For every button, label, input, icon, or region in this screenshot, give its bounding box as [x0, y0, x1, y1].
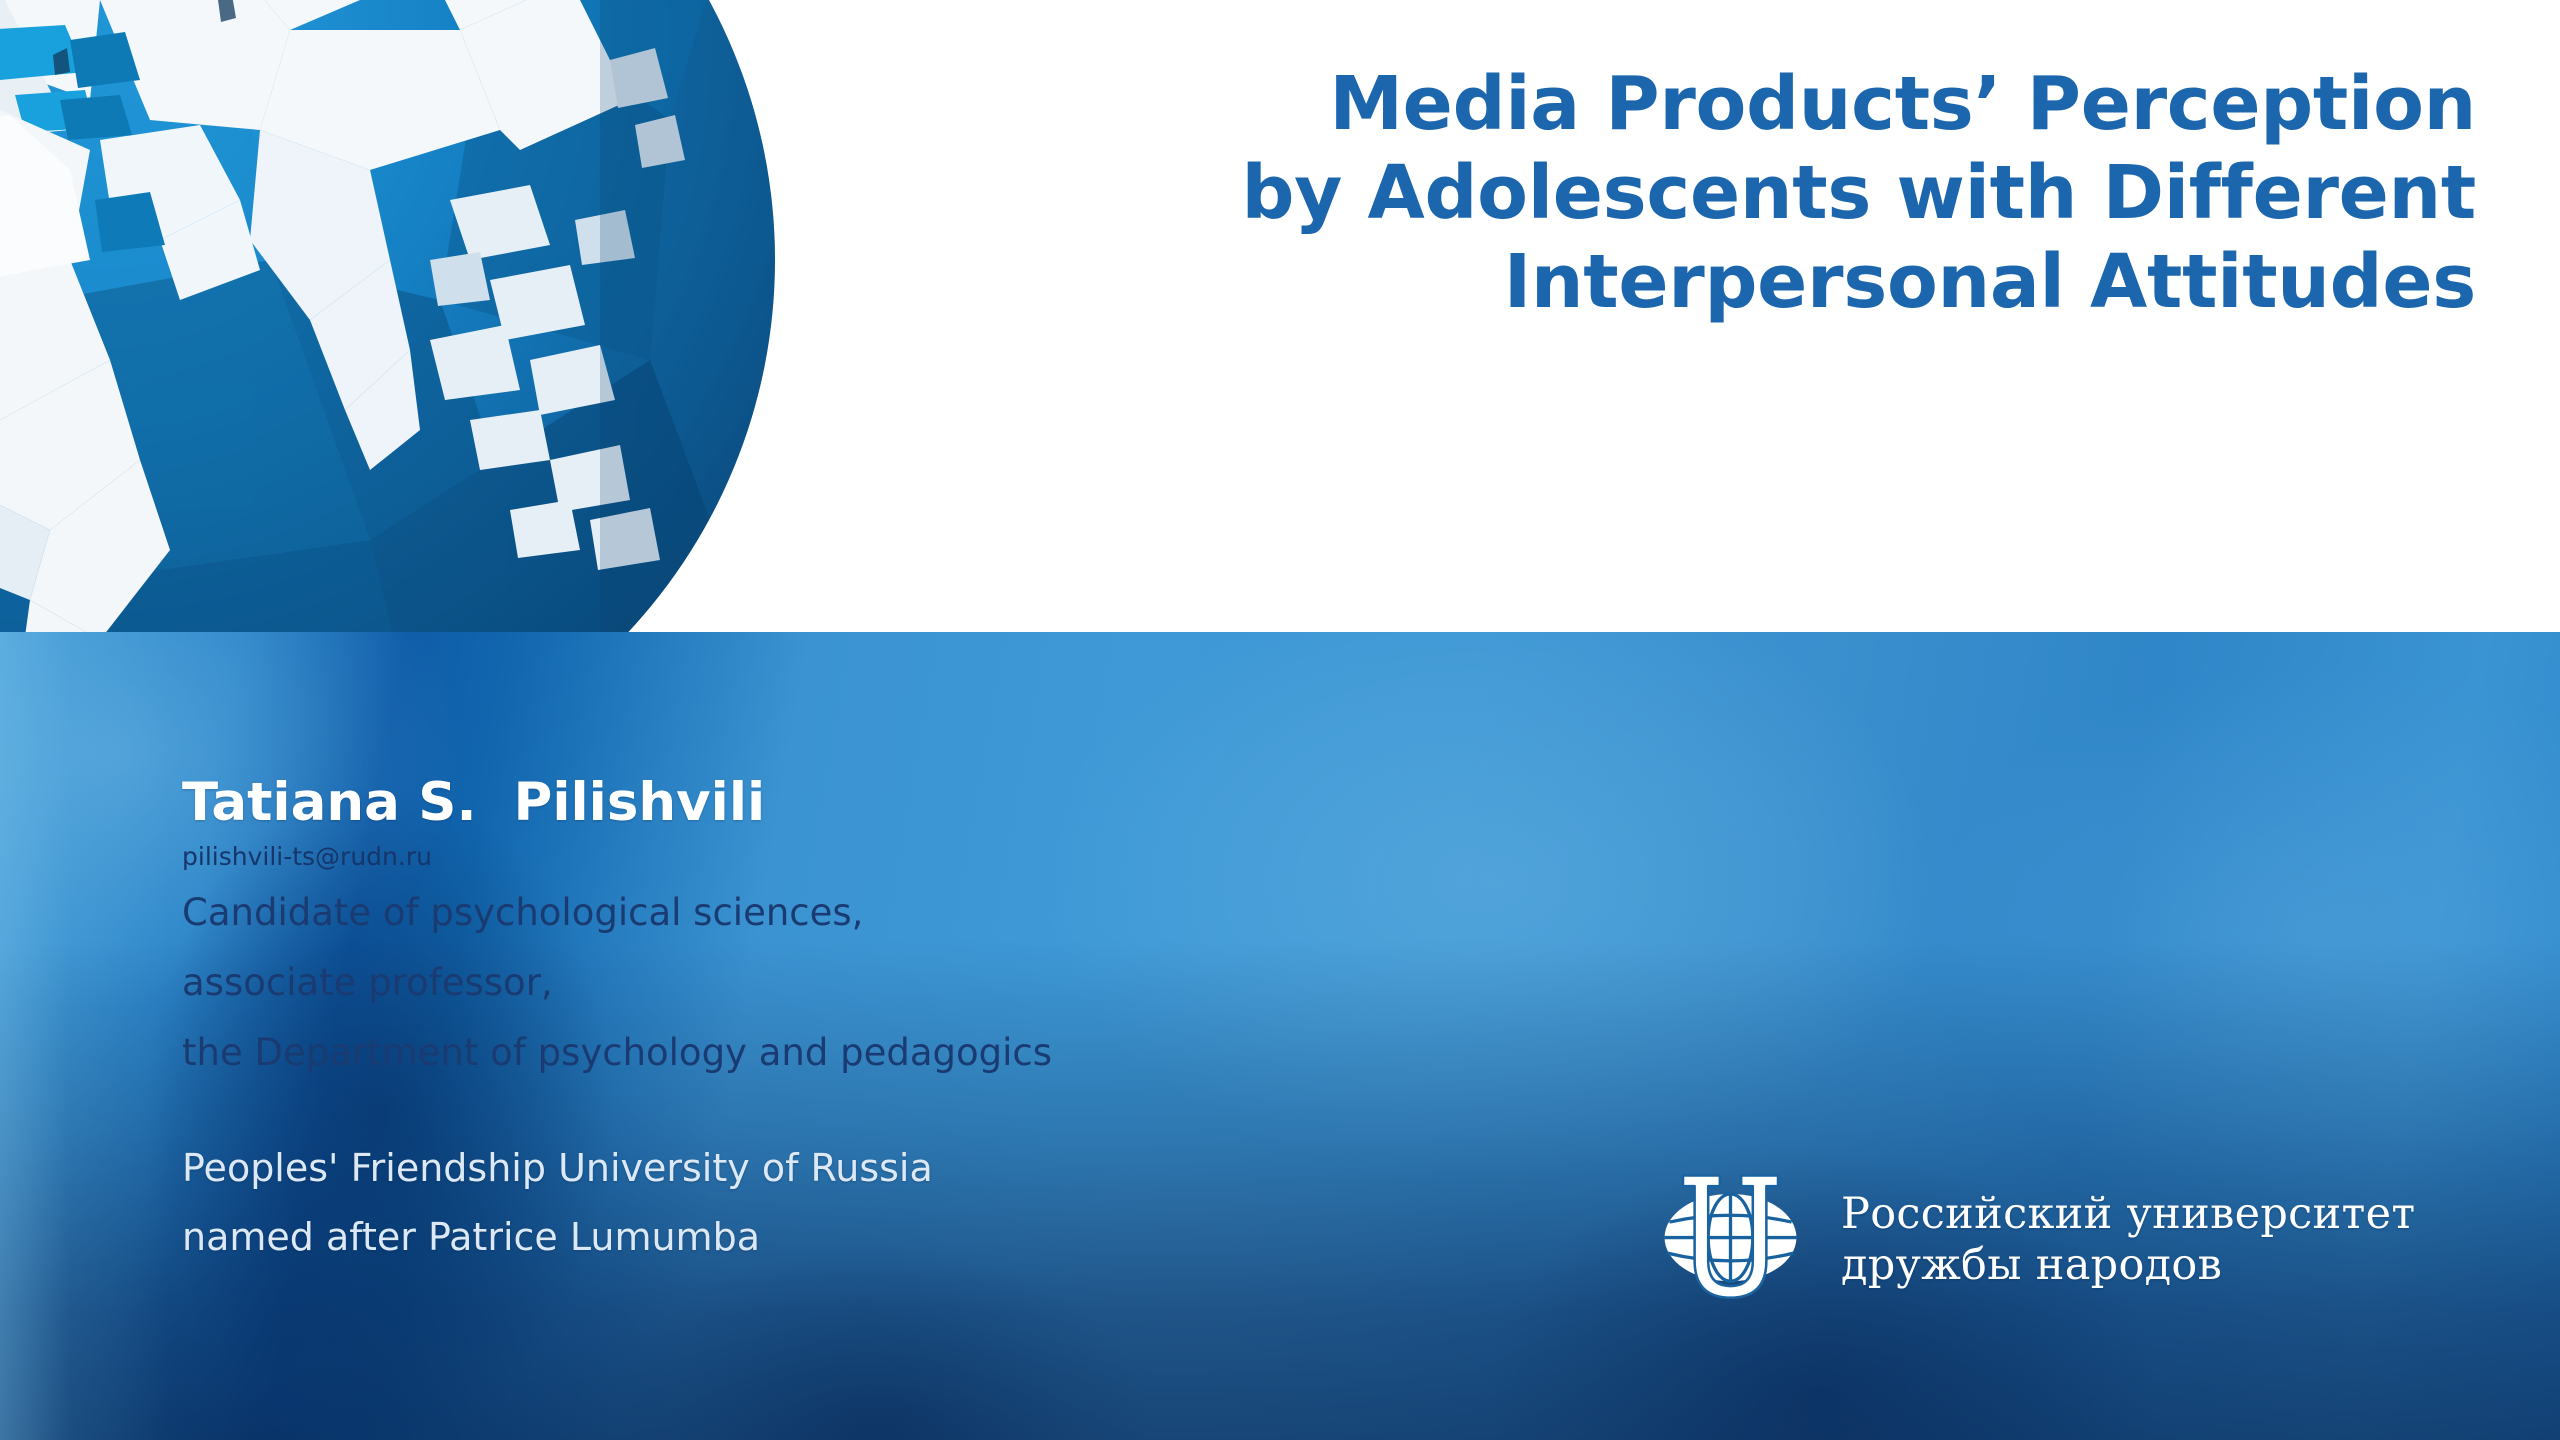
title-line-3: Interpersonal Attitudes: [836, 238, 2476, 327]
credential-line-2: associate professor,: [182, 948, 1052, 1018]
slide-footer-panel: Tatiana S. Pilishvili pilishvili-ts@rudn…: [0, 632, 2560, 1440]
university-line-2: named after Patrice Lumumba: [182, 1203, 933, 1272]
university-affiliation: Peoples' Friendship University of Russia…: [182, 1134, 933, 1272]
page-title: Media Products’ Perception by Adolescent…: [836, 60, 2476, 327]
title-line-2: by Adolescents with Different: [836, 149, 2476, 238]
rudn-logo: Российский университет дружбы народов: [1648, 1160, 2415, 1320]
title-slide: Media Products’ Perception by Adolescent…: [0, 0, 2560, 1440]
author-name: Tatiana S. Pilishvili: [182, 772, 1052, 834]
globe-artwork: [0, 0, 790, 632]
credential-line-1: Candidate of psychological sciences,: [182, 878, 1052, 948]
rudn-wordmark-line-1: Российский университет: [1841, 1189, 2415, 1240]
rudn-wordmark-line-2: дружбы народов: [1841, 1240, 2415, 1291]
rudn-wordmark: Российский университет дружбы народов: [1841, 1189, 2415, 1291]
credential-line-3: the Department of psychology and pedagog…: [182, 1018, 1052, 1088]
title-line-1: Media Products’ Perception: [836, 60, 2476, 149]
university-line-1: Peoples' Friendship University of Russia: [182, 1134, 933, 1203]
author-credentials: Candidate of psychological sciences, ass…: [182, 878, 1052, 1088]
rudn-globe-u-monogram-icon: [1648, 1160, 1813, 1320]
low-poly-earth-globe-icon: [0, 0, 790, 632]
slide-header-band: Media Products’ Perception by Adolescent…: [0, 0, 2560, 632]
author-email[interactable]: pilishvili-ts@rudn.ru: [182, 839, 1052, 875]
author-block: Tatiana S. Pilishvili pilishvili-ts@rudn…: [182, 772, 1052, 1088]
